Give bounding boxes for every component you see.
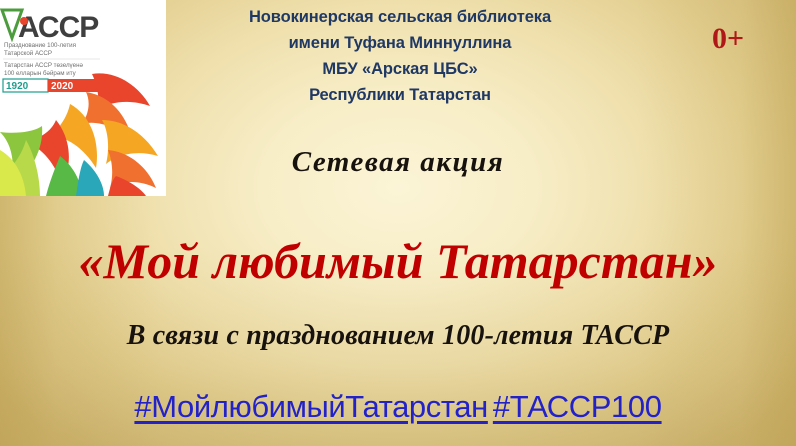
page-title: «Мой любимый Татарстан» (0, 232, 796, 290)
svg-text:Празднование 100-летия: Празднование 100-летия (4, 42, 76, 49)
library-header: Новокинерская сельская библиотека имени … (170, 4, 630, 108)
header-line-3: МБУ «Арская ЦБС» (170, 56, 630, 82)
svg-text:Татарстан АССР төзелүенә: Татарстан АССР төзелүенә (4, 62, 84, 69)
poster-canvas: АССР Празднование 100-летия Татарской АС… (0, 0, 796, 446)
hashtag-row: #МойлюбимыйТатарстан#ТАССР100 (0, 389, 796, 425)
svg-text:Татарской АССР: Татарской АССР (4, 50, 52, 57)
hashtag-link-2[interactable]: #ТАССР100 (493, 389, 662, 424)
svg-text:1920: 1920 (6, 81, 29, 92)
svg-text:2020: 2020 (51, 81, 74, 92)
header-line-1: Новокинерская сельская библиотека (170, 4, 630, 30)
action-label: Сетевая акция (0, 146, 796, 179)
svg-text:100 елларын бәйрәм иту: 100 елларын бәйрәм иту (4, 70, 77, 77)
hashtag-link-1[interactable]: #МойлюбимыйТатарстан (134, 389, 487, 424)
header-line-4: Республики Татарстан (170, 82, 630, 108)
header-line-2: имени Туфана Миннуллина (170, 30, 630, 56)
logo-year-bar: 1920 2020 (3, 79, 100, 92)
svg-text:АССР: АССР (18, 11, 98, 44)
age-rating-badge: 0+ (712, 24, 744, 54)
occasion-subtitle: В связи с празднованием 100-летия ТАССР (0, 320, 796, 352)
